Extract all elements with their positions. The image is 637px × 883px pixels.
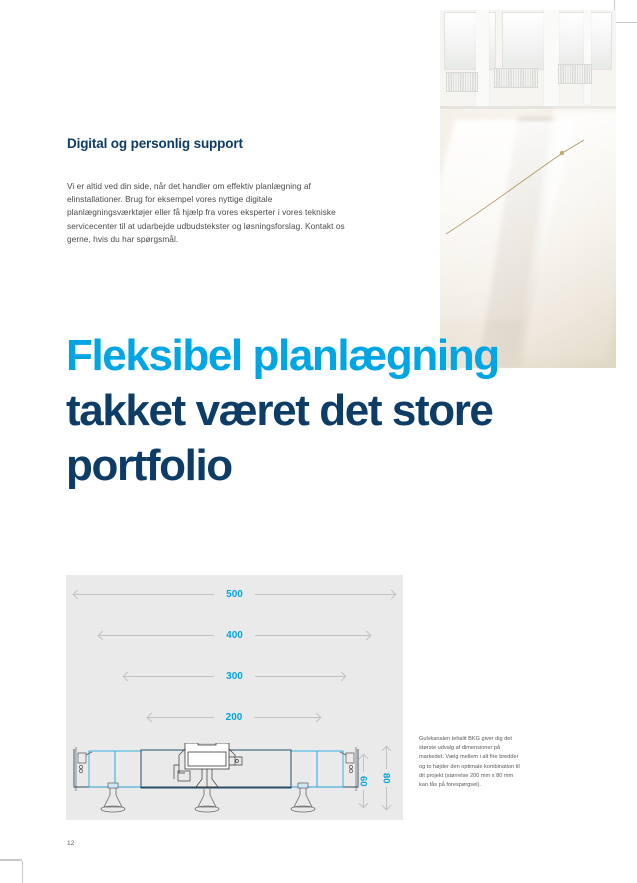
- dimension-arrow-left: [124, 676, 214, 677]
- crop-mark-bottom-left-vertical: [22, 861, 23, 883]
- dimension-column-60: 60: [356, 755, 370, 807]
- hero-headline: Fleksibel planlægning takket været det s…: [66, 328, 586, 493]
- hero-photo: [440, 10, 616, 368]
- crop-mark-bottom-left-horizontal: [0, 859, 22, 861]
- dimension-value-80: 80: [381, 769, 392, 788]
- duct-cross-section: [66, 743, 366, 820]
- dimension-arrow-up: [363, 755, 364, 772]
- dimension-value-400: 400: [214, 630, 255, 641]
- dimension-arrow-down: [363, 790, 364, 807]
- photo-window-pane: [502, 12, 550, 70]
- dimension-value-500: 500: [214, 589, 255, 600]
- photo-cable: [444, 118, 614, 238]
- dimension-row-200: 200: [148, 710, 320, 724]
- page-title: Digital og personlig support: [67, 136, 243, 151]
- dimension-arrow-right: [255, 676, 345, 677]
- dimension-arrow-down: [386, 787, 387, 809]
- dimension-value-200: 200: [214, 712, 255, 723]
- dimension-value-60: 60: [358, 772, 369, 791]
- dimension-row-300: 300: [124, 669, 345, 683]
- photo-radiator: [494, 68, 538, 88]
- photo-skirting: [440, 106, 616, 109]
- dimension-arrow-left: [148, 717, 214, 718]
- dimension-arrow-up: [386, 747, 387, 769]
- support-body-text: Vi er altid ved din side, når det handle…: [67, 180, 345, 246]
- dimension-column-80: 80: [379, 747, 393, 809]
- page-number: 12: [67, 840, 74, 847]
- photo-radiator: [558, 64, 592, 84]
- dimension-arrow-left: [99, 635, 214, 636]
- diagram-caption: Gulvkanalen tehalit BKG giver dig det st…: [419, 735, 523, 790]
- floor-duct-diagram: 500 400 300 200: [66, 575, 403, 820]
- photo-column: [584, 10, 591, 104]
- headline-line-1: Fleksibel planlægning: [66, 331, 499, 380]
- headline-line-2: takket været det store: [66, 386, 493, 435]
- dimension-arrow-right: [255, 635, 370, 636]
- dimension-row-500: 500: [74, 587, 395, 601]
- headline-line-3: portfolio: [66, 441, 232, 490]
- dimension-arrow-right: [255, 594, 395, 595]
- photo-column: [544, 10, 559, 106]
- dimension-arrow-left: [74, 594, 214, 595]
- dimension-arrow-right: [254, 717, 320, 718]
- photo-radiator: [446, 72, 478, 92]
- dimension-value-300: 300: [214, 671, 255, 682]
- crop-mark-top-right-horizontal: [615, 22, 637, 23]
- dimension-row-400: 400: [99, 628, 370, 642]
